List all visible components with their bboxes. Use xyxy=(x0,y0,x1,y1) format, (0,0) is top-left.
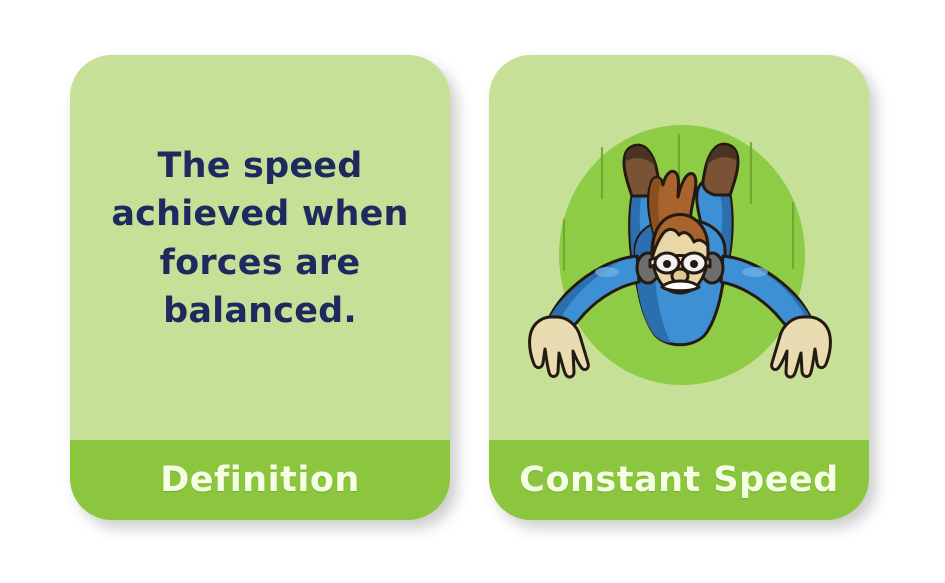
skydiver-illustration xyxy=(489,55,869,440)
definition-text: The speed achieved when forces are balan… xyxy=(95,142,425,335)
flashcard-definition-footer: Definition xyxy=(70,440,450,520)
flashcard-definition[interactable]: The speed achieved when forces are balan… xyxy=(70,55,450,520)
flashcard-pair-stage: The speed achieved when forces are balan… xyxy=(0,0,945,583)
flashcard-term-footer: Constant Speed xyxy=(489,440,869,520)
flashcard-term[interactable]: Constant Speed xyxy=(489,55,869,520)
right-arm-highlight xyxy=(742,267,768,277)
definition-footer-label: Definition xyxy=(160,460,360,500)
mouth xyxy=(662,281,699,291)
left-arm-highlight xyxy=(595,267,619,277)
eye-right xyxy=(690,260,698,268)
flashcard-definition-body: The speed achieved when forces are balan… xyxy=(70,55,450,440)
eye-left xyxy=(663,260,671,268)
flashcard-term-body xyxy=(489,55,869,440)
term-footer-label: Constant Speed xyxy=(519,460,838,500)
